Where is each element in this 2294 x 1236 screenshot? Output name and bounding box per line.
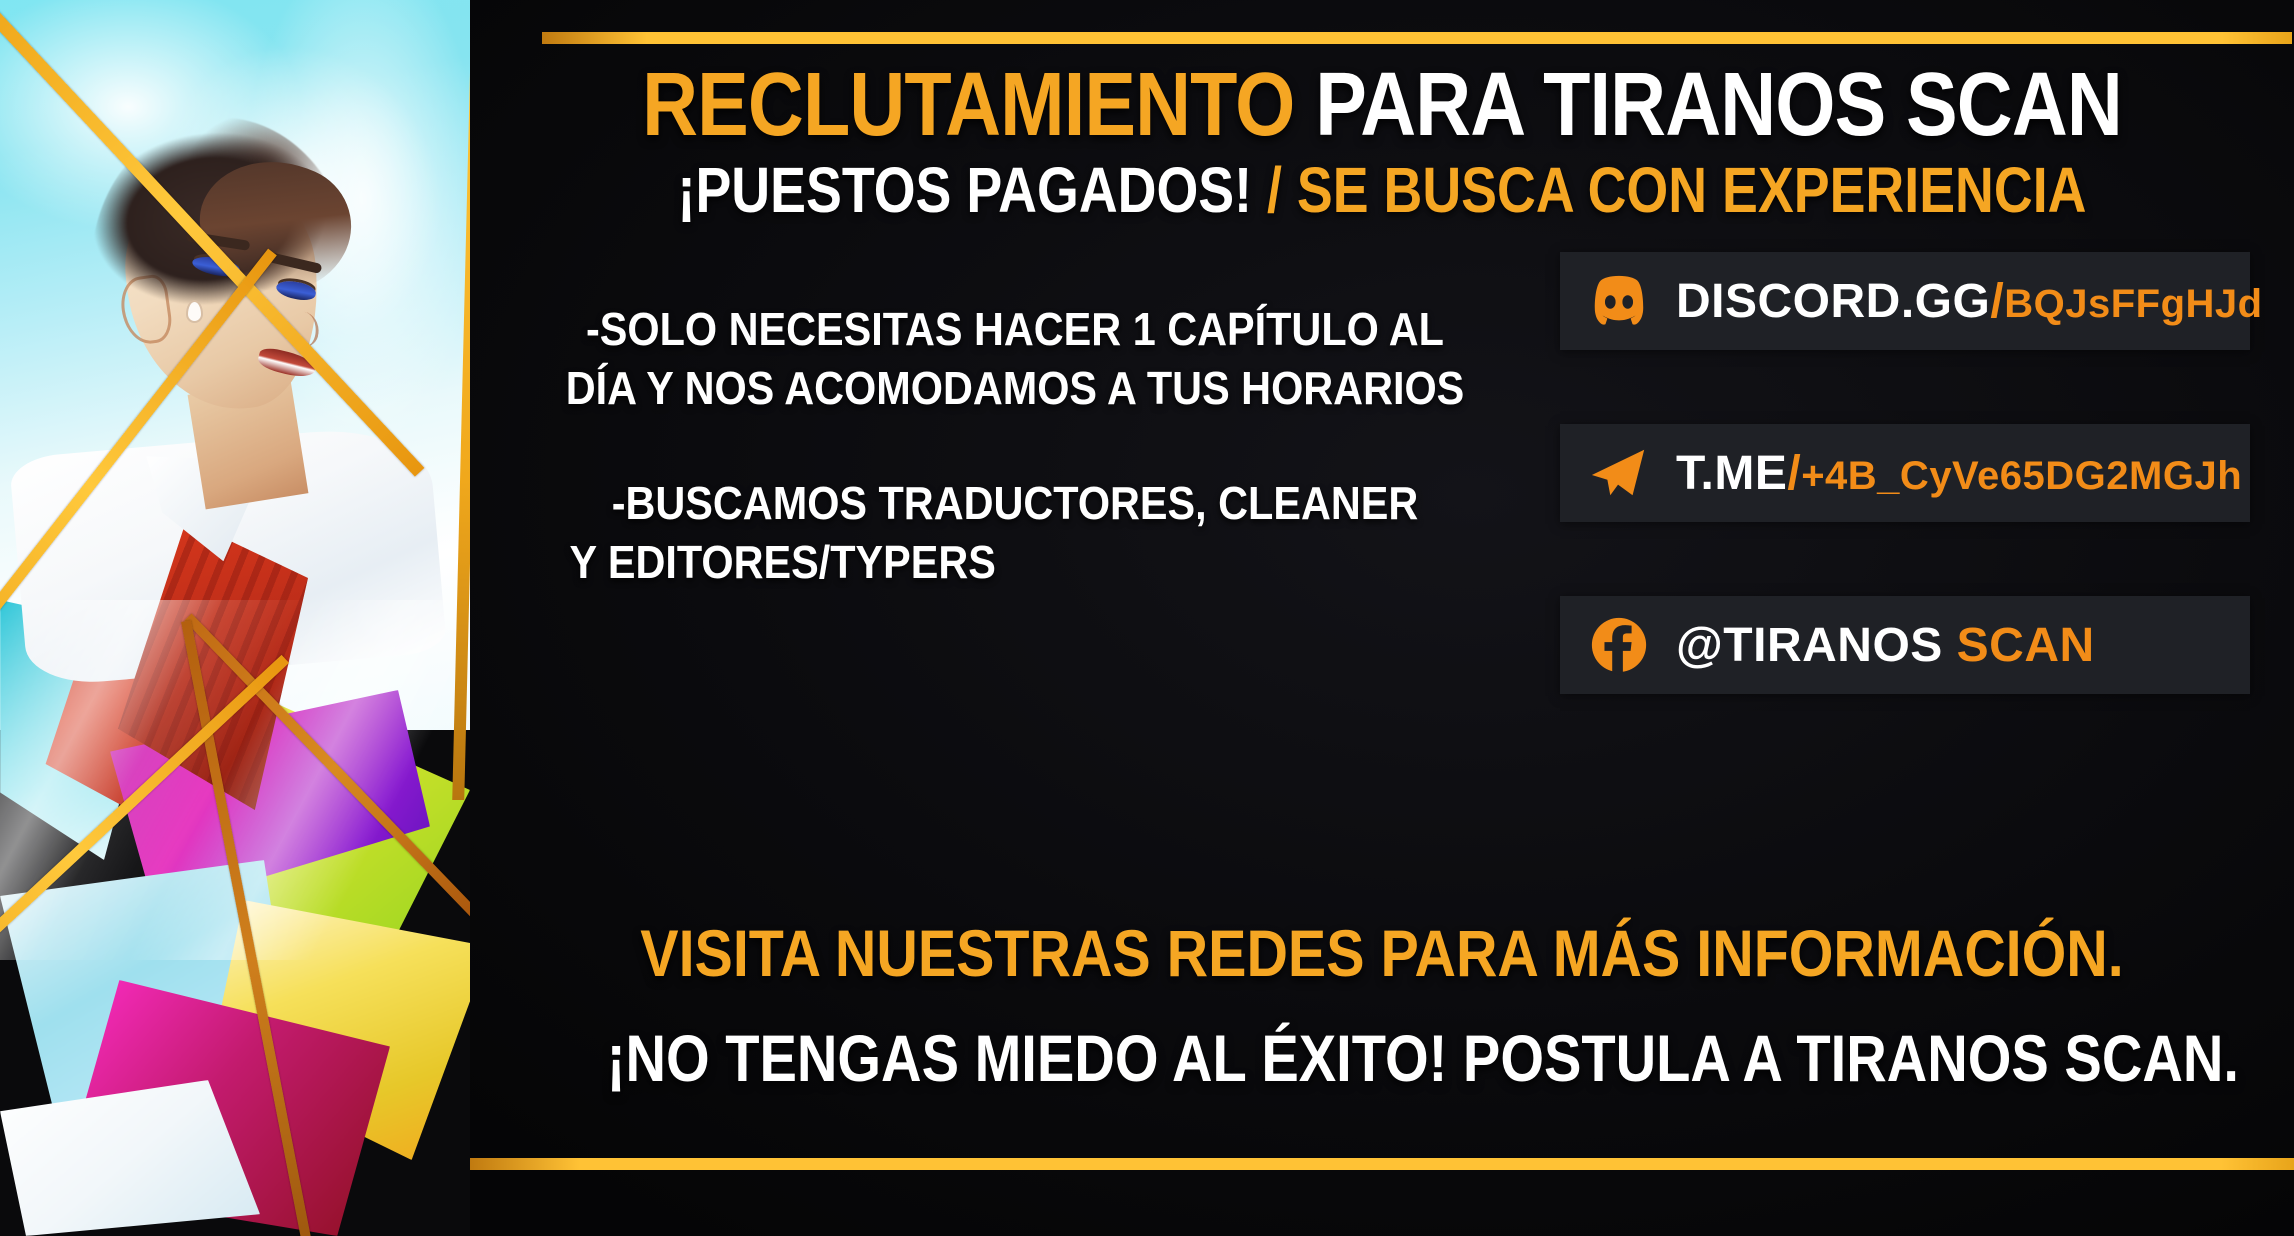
cta-line-secondary: ¡NO TENGAS MIEDO AL ÉXITO! POSTULA A TIR… xyxy=(607,1020,2157,1096)
requirement-item: -BUSCAMOS TRADUCTORES, CLEANER Y EDITORE… xyxy=(534,474,1497,592)
facebook-handle-accent: SCAN xyxy=(1957,619,2095,672)
requirements-list: -SOLO NECESITAS HACER 1 CAPÍTULO AL DÍA … xyxy=(534,300,1497,648)
contact-card-text: DISCORD.GG/BQJsFFgHJd xyxy=(1676,274,2263,329)
character-artwork-panel xyxy=(0,0,470,1236)
character-sweat-drop xyxy=(186,300,203,323)
headline-gold-part: RECLUTAMIENTO xyxy=(642,55,1294,155)
recruitment-banner: RECLUTAMIENTO PARA TIRANOS SCAN ¡PUESTOS… xyxy=(0,0,2294,1236)
gold-rule-top xyxy=(542,32,2292,44)
contact-card-discord[interactable]: DISCORD.GG/BQJsFFgHJd xyxy=(1560,252,2250,350)
telegram-separator: / xyxy=(1787,447,1801,500)
facebook-handle: @TIRANOS xyxy=(1676,619,1943,672)
subhead-white-part: ¡PUESTOS PAGADOS! xyxy=(678,154,1253,226)
cta-line-primary: VISITA NUESTRAS REDES PARA MÁS INFORMACI… xyxy=(589,915,2176,991)
contact-cards: DISCORD.GG/BQJsFFgHJd T.ME/+4B_CyVe65DG2… xyxy=(1560,252,2260,768)
requirement-line: Y EDITORES/TYPERS xyxy=(534,533,1497,592)
requirement-line: -BUSCAMOS TRADUCTORES, CLEANER xyxy=(534,474,1497,533)
telegram-invite-code: +4B_CyVe65DG2MGJh xyxy=(1801,454,2242,498)
contact-card-facebook[interactable]: @TIRANOS SCAN xyxy=(1560,596,2250,694)
gold-rule-bottom xyxy=(470,1158,2294,1170)
telegram-icon xyxy=(1588,442,1650,504)
discord-prefix: DISCORD.GG xyxy=(1676,275,1990,328)
discord-invite-code: BQJsFFgHJd xyxy=(2004,282,2262,326)
discord-icon xyxy=(1588,270,1650,332)
contact-card-telegram[interactable]: T.ME/+4B_CyVe65DG2MGJh xyxy=(1560,424,2250,522)
discord-separator: / xyxy=(1990,275,2004,328)
content-area: RECLUTAMIENTO PARA TIRANOS SCAN ¡PUESTOS… xyxy=(470,0,2294,1236)
telegram-prefix: T.ME xyxy=(1676,447,1787,500)
facebook-icon xyxy=(1588,614,1650,676)
contact-card-text: @TIRANOS SCAN xyxy=(1676,618,2095,673)
requirement-item: -SOLO NECESITAS HACER 1 CAPÍTULO AL DÍA … xyxy=(534,300,1497,418)
page-title: RECLUTAMIENTO PARA TIRANOS SCAN xyxy=(598,60,2167,150)
page-subtitle: ¡PUESTOS PAGADOS! / SE BUSCA CON EXPERIE… xyxy=(616,158,2148,222)
requirement-line: -SOLO NECESITAS HACER 1 CAPÍTULO AL xyxy=(534,300,1497,359)
subhead-gold-part: / SE BUSCA CON EXPERIENCIA xyxy=(1267,154,2086,226)
headline-white-part: PARA TIRANOS SCAN xyxy=(1315,55,2122,155)
requirement-line: DÍA Y NOS ACOMODAMOS A TUS HORARIOS xyxy=(534,359,1497,418)
contact-card-text: T.ME/+4B_CyVe65DG2MGJh xyxy=(1676,446,2242,501)
